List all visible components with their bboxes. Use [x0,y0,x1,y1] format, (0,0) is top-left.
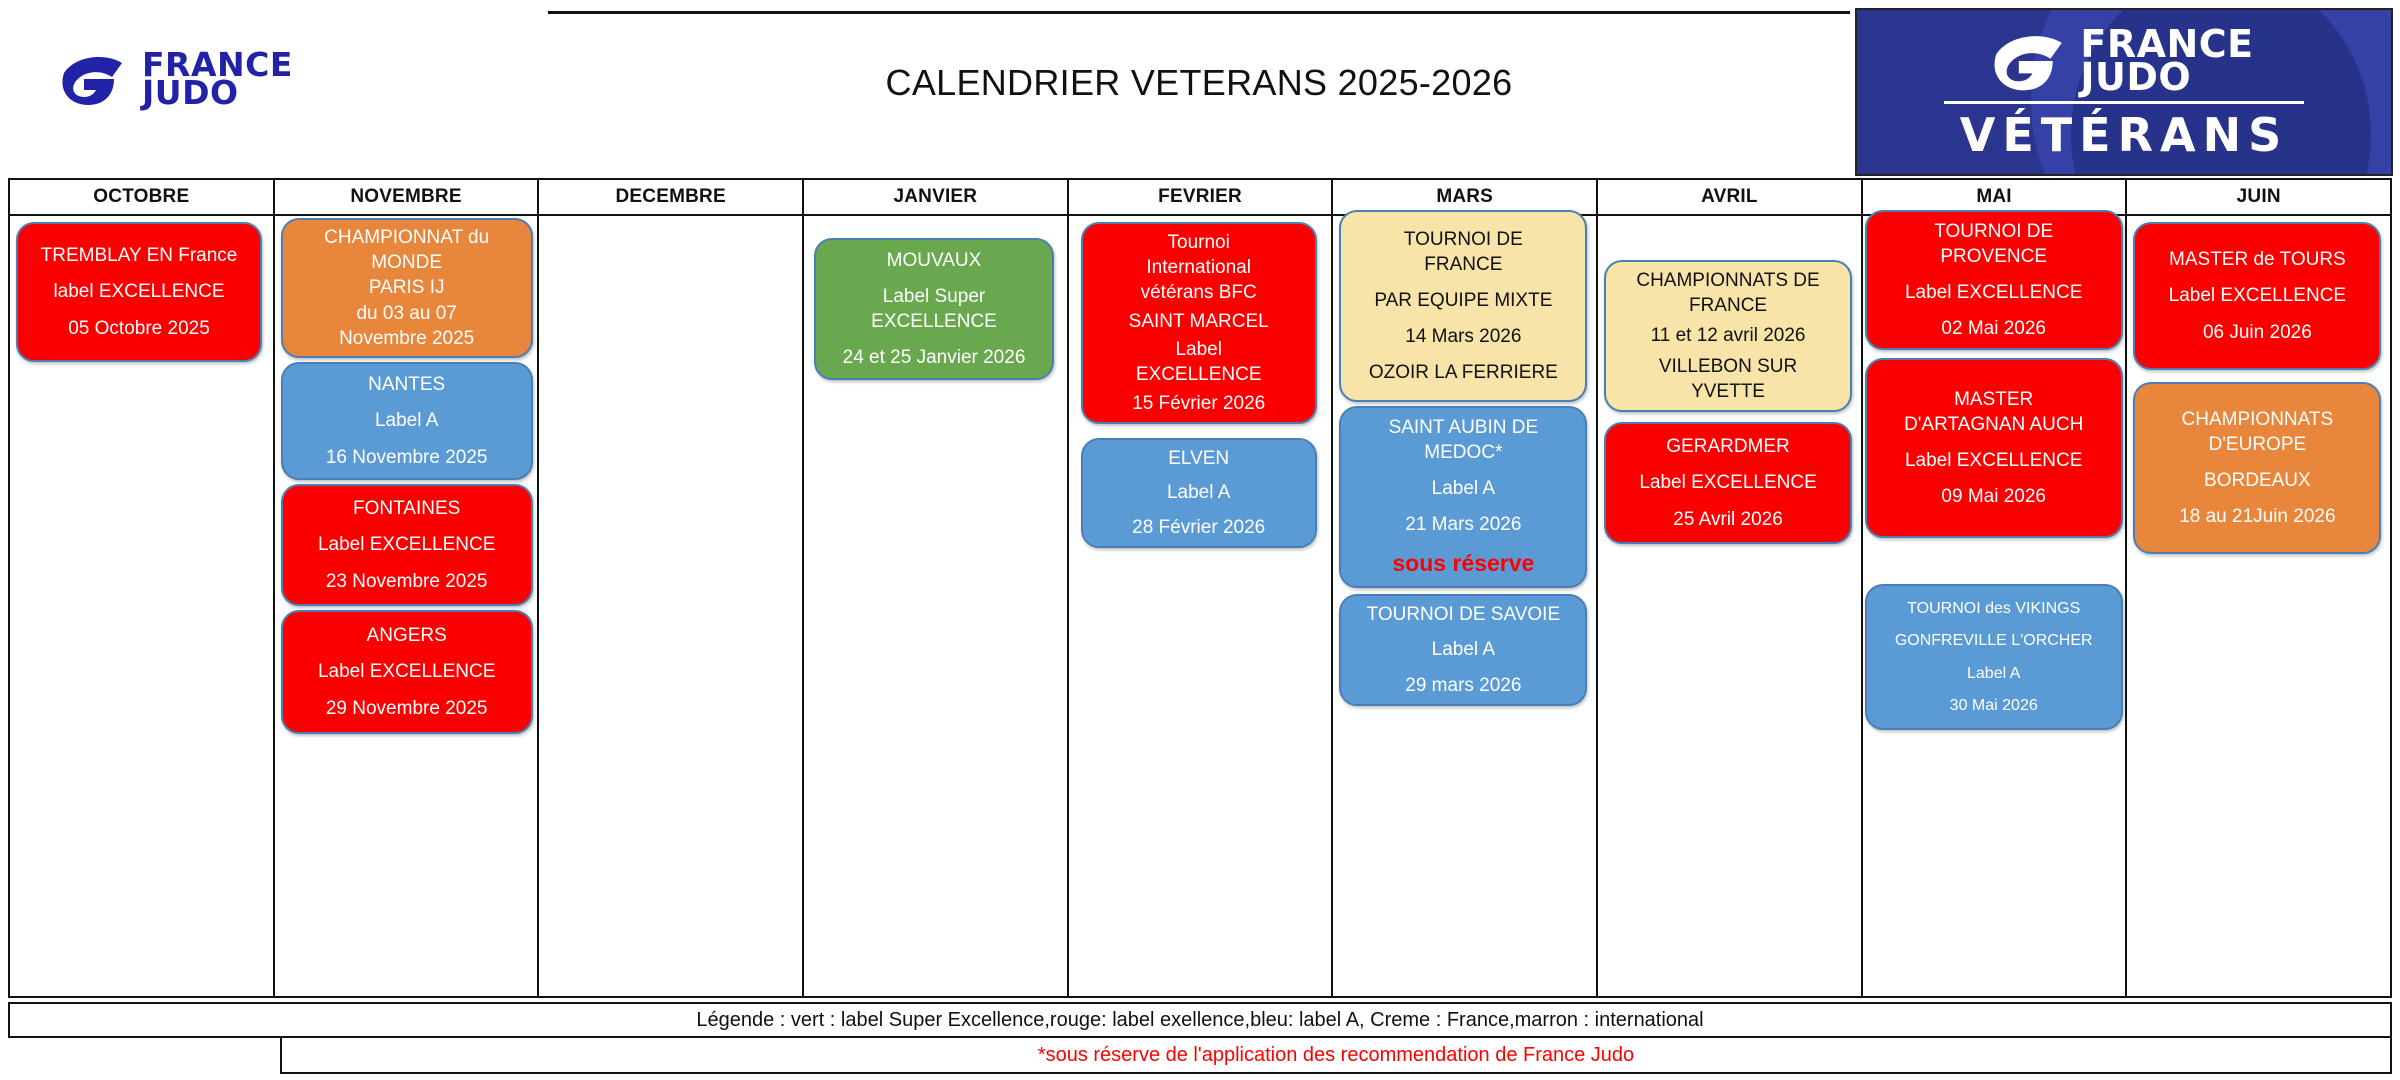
event-date: 30 Mai 2026 [1873,695,2115,716]
month-header-juin: JUIN [2127,180,2390,216]
event-label: Label EXCELLENCE [289,532,525,557]
month-body-janvier: MOUVAUX Label Super EXCELLENCE 24 et 25 … [804,216,1067,996]
event-card-tournoi-de-savoie[interactable]: TOURNOI DE SAVOIE Label A 29 mars 2026 [1339,594,1587,706]
month-column-decembre: DECEMBRE [539,180,804,996]
event-title: ELVEN [1089,446,1309,471]
legend-text: Légende : vert : label Super Excellence,… [696,1009,1703,1032]
event-date: 06 Juin 2026 [2141,320,2373,345]
month-column-janvier: JANVIER MOUVAUX Label Super EXCELLENCE 2… [804,180,1069,996]
event-label: Label EXCELLENCE [1873,280,2115,305]
month-column-fevrier: FEVRIER Tournoi International vétérans B… [1069,180,1334,996]
france-judo-swoosh-icon [1994,31,2064,91]
france-judo-logo-left: FRANCE JUDO [62,48,482,110]
event-card-championnats-deurope[interactable]: CHAMPIONNATS D'EUROPE BORDEAUX 18 au 21J… [2133,382,2381,554]
event-venue: VILLEBON SUR [1612,354,1844,379]
event-card-nantes[interactable]: NANTES Label A 16 Novembre 2025 [281,362,533,480]
logo-line-judo: JUDO [142,79,293,107]
event-label: Label [1089,337,1309,362]
reserve-note-row: *sous réserve de l'application des recom… [280,1038,2392,1074]
event-title: NANTES [289,372,525,397]
month-body-mars: TOURNOI DE FRANCE PAR EQUIPE MIXTE 14 Ma… [1333,216,1596,996]
month-body-avril: CHAMPIONNATS DE FRANCE 11 et 12 avril 20… [1598,216,1861,996]
event-date: 29 Novembre 2025 [289,696,525,721]
banner-divider [1944,101,2304,104]
event-label-cont: EXCELLENCE [822,309,1046,334]
event-card-mouvaux[interactable]: MOUVAUX Label Super EXCELLENCE 24 et 25 … [814,238,1054,380]
event-label: Label EXCELLENCE [2141,283,2373,308]
event-title: ANGERS [289,623,525,648]
calendar-grid: OCTOBRE TREMBLAY EN France label EXCELLE… [8,178,2392,998]
event-date: 11 et 12 avril 2026 [1612,323,1844,348]
month-header-novembre: NOVEMBRE [275,180,538,216]
banner-subtitle-veterans: VÉTÉRANS [1960,108,2288,162]
event-title: SAINT AUBIN DE [1347,415,1579,440]
month-column-novembre: NOVEMBRE CHAMPIONNAT du MONDE PARIS IJ d… [275,180,540,996]
event-subtitle: PAR EQUIPE MIXTE [1347,288,1579,313]
event-title-cont: International [1089,255,1309,280]
event-card-tournoi-de-provence[interactable]: TOURNOI DE PROVENCE Label EXCELLENCE 02 … [1865,210,2123,350]
event-date: 28 Février 2026 [1089,515,1309,540]
event-title: MASTER [1873,387,2115,412]
calendar-page: FRANCE JUDO CALENDRIER VETERANS 2025-202… [0,0,2400,1080]
event-date: 05 Octobre 2025 [24,316,254,341]
reserve-note-text: *sous réserve de l'application des recom… [1038,1044,1634,1067]
page-header: FRANCE JUDO CALENDRIER VETERANS 2025-202… [0,0,2400,178]
event-label: Label Super [822,284,1046,309]
event-label: Label A [289,408,525,433]
event-label: Label EXCELLENCE [1873,448,2115,473]
event-label: Label A [1873,663,2115,684]
month-column-octobre: OCTOBRE TREMBLAY EN France label EXCELLE… [10,180,275,996]
month-header-decembre: DECEMBRE [539,180,802,216]
event-title: TOURNOI DE [1347,227,1579,252]
event-card-championnat-du-monde[interactable]: CHAMPIONNAT du MONDE PARIS IJ du 03 au 0… [281,218,533,358]
event-title: CHAMPIONNATS DE [1612,268,1844,293]
event-title: TOURNOI des VIKINGS [1873,598,2115,619]
month-header-avril: AVRIL [1598,180,1861,216]
event-title-cont: D'EUROPE [2141,432,2373,457]
event-title-cont: FRANCE [1612,293,1844,318]
france-judo-wordmark-right: FRANCE JUDO [2080,28,2253,93]
event-title-cont: FRANCE [1347,252,1579,277]
event-title: TOURNOI DE SAVOIE [1347,602,1579,627]
event-title-cont: MEDOC* [1347,440,1579,465]
event-title: MASTER de TOURS [2141,247,2373,272]
month-body-fevrier: Tournoi International vétérans BFC SAINT… [1069,216,1332,996]
event-card-tournoi-de-france[interactable]: TOURNOI DE FRANCE PAR EQUIPE MIXTE 14 Ma… [1339,210,1587,402]
event-card-master-dartagnan-auch[interactable]: MASTER D'ARTAGNAN AUCH Label EXCELLENCE … [1865,358,2123,538]
event-date-cont: Novembre 2025 [289,326,525,351]
event-date: 24 et 25 Janvier 2026 [822,345,1046,370]
event-date: 14 Mars 2026 [1347,324,1579,349]
month-body-juin: MASTER de TOURS Label EXCELLENCE 06 Juin… [2127,216,2390,996]
event-date: 16 Novembre 2025 [289,445,525,470]
event-title: FONTAINES [289,496,525,521]
month-header-fevrier: FEVRIER [1069,180,1332,216]
event-card-elven[interactable]: ELVEN Label A 28 Février 2026 [1081,438,1317,548]
event-venue: PARIS IJ [289,275,525,300]
france-judo-swoosh-icon [62,53,124,105]
france-judo-wordmark-left: FRANCE JUDO [142,51,293,106]
month-body-decembre [539,216,802,996]
event-card-championnats-de-france[interactable]: CHAMPIONNATS DE FRANCE 11 et 12 avril 20… [1604,260,1852,412]
event-venue: OZOIR LA FERRIERE [1347,360,1579,385]
event-card-tournoi-des-vikings[interactable]: TOURNOI des VIKINGS GONFREVILLE L'ORCHER… [1865,584,2123,730]
event-label: Label A [1347,637,1579,662]
event-title: CHAMPIONNAT du [289,225,525,250]
event-title: TOURNOI DE [1873,219,2115,244]
event-label: Label EXCELLENCE [1612,470,1844,495]
france-judo-veterans-banner: FRANCE JUDO VÉTÉRANS [1855,8,2393,176]
month-column-mai: MAI TOURNOI DE PROVENCE Label EXCELLENCE… [1863,180,2128,996]
legend-row: Légende : vert : label Super Excellence,… [8,1002,2392,1038]
event-title: GERARDMER [1612,434,1844,459]
event-card-fontaines[interactable]: FONTAINES Label EXCELLENCE 23 Novembre 2… [281,484,533,606]
event-title: MOUVAUX [822,248,1046,273]
event-label: Label EXCELLENCE [289,659,525,684]
event-date: du 03 au 07 [289,301,525,326]
event-title-cont: PROVENCE [1873,244,2115,269]
event-label-cont: EXCELLENCE [1089,362,1309,387]
month-header-janvier: JANVIER [804,180,1067,216]
event-card-master-de-tours[interactable]: MASTER de TOURS Label EXCELLENCE 06 Juin… [2133,222,2381,370]
event-title-cont: D'ARTAGNAN AUCH [1873,412,2115,437]
month-body-novembre: CHAMPIONNAT du MONDE PARIS IJ du 03 au 0… [275,216,538,996]
event-card-angers[interactable]: ANGERS Label EXCELLENCE 29 Novembre 2025 [281,610,533,734]
event-date: 02 Mai 2026 [1873,316,2115,341]
event-title-cont2: vétérans BFC [1089,280,1309,305]
month-column-mars: MARS TOURNOI DE FRANCE PAR EQUIPE MIXTE … [1333,180,1598,996]
event-title: TREMBLAY EN France [24,243,254,268]
event-date: 29 mars 2026 [1347,673,1579,698]
month-column-juin: JUIN MASTER de TOURS Label EXCELLENCE 06… [2127,180,2390,996]
event-card-tremblay[interactable]: TREMBLAY EN France label EXCELLENCE 05 O… [16,222,262,362]
event-date: 21 Mars 2026 [1347,512,1579,537]
month-header-octobre: OCTOBRE [10,180,273,216]
event-date: 23 Novembre 2025 [289,569,525,594]
event-venue: SAINT MARCEL [1089,309,1309,334]
event-date: 09 Mai 2026 [1873,484,2115,509]
event-reserve-note: sous réserve [1347,548,1579,578]
page-title: CALENDRIER VETERANS 2025-2026 [548,62,1850,104]
event-label: label EXCELLENCE [24,279,254,304]
event-title: CHAMPIONNATS [2141,407,2373,432]
event-venue: GONFREVILLE L'ORCHER [1873,630,2115,651]
event-venue: BORDEAUX [2141,468,2373,493]
banner-line-judo: JUDO [2080,61,2253,94]
event-title-cont: MONDE [289,250,525,275]
event-date: 18 au 21Juin 2026 [2141,504,2373,529]
month-body-mai: TOURNOI DE PROVENCE Label EXCELLENCE 02 … [1863,216,2126,996]
month-column-avril: AVRIL CHAMPIONNATS DE FRANCE 11 et 12 av… [1598,180,1863,996]
month-body-octobre: TREMBLAY EN France label EXCELLENCE 05 O… [10,216,273,996]
event-card-saint-marcel[interactable]: Tournoi International vétérans BFC SAINT… [1081,222,1317,424]
event-card-saint-aubin-de-medoc[interactable]: SAINT AUBIN DE MEDOC* Label A 21 Mars 20… [1339,406,1587,588]
event-date: 25 Avril 2026 [1612,507,1844,532]
title-divider-rule [548,11,1850,14]
event-title: Tournoi [1089,230,1309,255]
event-venue-cont: YVETTE [1612,379,1844,404]
event-card-gerardmer[interactable]: GERARDMER Label EXCELLENCE 25 Avril 2026 [1604,422,1852,544]
event-label: Label A [1089,480,1309,505]
event-date: 15 Février 2026 [1089,391,1309,416]
event-label: Label A [1347,476,1579,501]
